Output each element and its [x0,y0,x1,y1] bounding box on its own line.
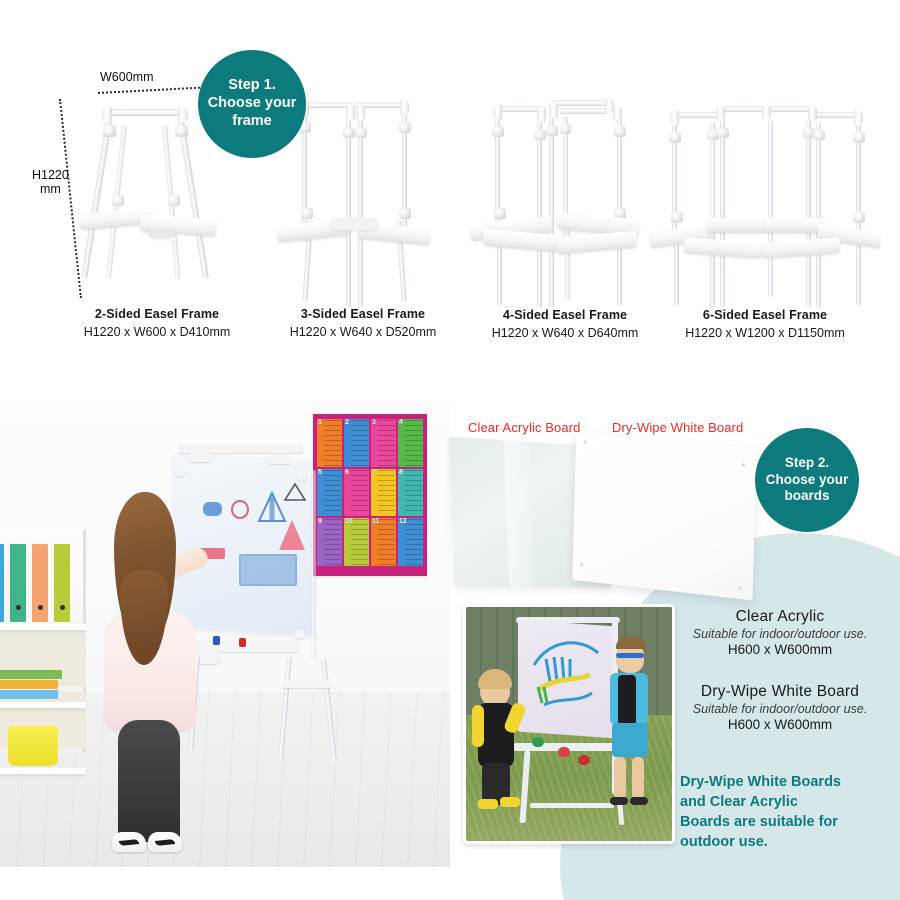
bookshelf [0,530,86,752]
step-1-badge: Step 1. Choose your frame [198,50,306,158]
dry-wipe-white-board-image [572,432,756,600]
step-2-label: Step 2. Choose your boards [760,455,855,504]
dry-wipe-white-board-label: Dry-Wipe White Board [612,420,743,435]
doodle-outline-triangle [283,482,307,502]
infographic-page: W600mm H1220 mm [0,0,900,900]
frame-caption-4-sided: 4-Sided Easel Frame H1220 x W640 x D640m… [465,306,665,342]
width-dimension-line [98,86,208,94]
height-dimension-label: H1220 mm [32,168,69,197]
doodle-red-triangle [277,518,307,552]
spec-title: Clear Acrylic [665,608,895,626]
spec-clear-acrylic: Clear Acrylic Suitable for indoor/outdoo… [665,608,895,657]
frame-caption-3-sided: 3-Sided Easel Frame H1220 x W640 x D520m… [268,305,458,341]
outdoor-use-note: Dry-Wipe White Boards and Clear Acrylic … [680,772,880,852]
spec-dry-wipe-white-board: Dry-Wipe White Board Suitable for indoor… [665,683,895,732]
spec-subtitle: Suitable for indoor/outdoor use. [665,702,895,716]
step-2-badge: Step 2. Choose your boards [755,428,859,532]
photo-girl-at-easel: 1 2 3 4 5 6 7 8 9 10 11 12 [0,402,450,867]
frame-title: 6-Sided Easel Frame [650,306,880,324]
frame-dims: H1220 x W1200 x D1150mm [650,324,880,342]
step-1-label: Step 1. Choose your frame [202,77,303,130]
spec-dims: H600 x W600mm [665,642,895,657]
frame-title: 3-Sided Easel Frame [268,305,458,323]
spec-title: Dry-Wipe White Board [665,683,895,701]
frame-card-6-sided[interactable]: 6-Sided Easel Frame H1220 x W1200 x D115… [650,78,880,335]
frame-title: 4-Sided Easel Frame [465,306,665,324]
frame-dims: H1220 x W640 x D520mm [268,323,458,341]
frame-card-4-sided[interactable]: 4-Sided Easel Frame H1220 x W640 x D640m… [465,78,665,335]
easel-frame-6-sided-illustration [650,78,880,296]
child-figure [96,492,226,822]
width-dimension-label: W600mm [100,70,153,84]
frame-title: 2-Sided Easel Frame [62,305,252,323]
frames-section: W600mm H1220 mm [0,0,900,400]
frame-dims: H1220 x W640 x D640mm [465,324,665,342]
outdoor-board-painting [524,631,610,723]
spec-dims: H600 x W600mm [665,717,895,732]
photo-children-outdoors [463,604,675,844]
easel-frame-4-sided-illustration [465,78,665,296]
clear-acrylic-board-label: Clear Acrylic Board [468,420,580,435]
frame-caption-2-sided: 2-Sided Easel Frame H1220 x W600 x D410m… [62,305,252,341]
spec-subtitle: Suitable for indoor/outdoor use. [665,627,895,641]
frame-caption-6-sided: 6-Sided Easel Frame H1220 x W1200 x D115… [650,306,880,342]
frame-dims: H1220 x W600 x D410mm [62,323,252,341]
